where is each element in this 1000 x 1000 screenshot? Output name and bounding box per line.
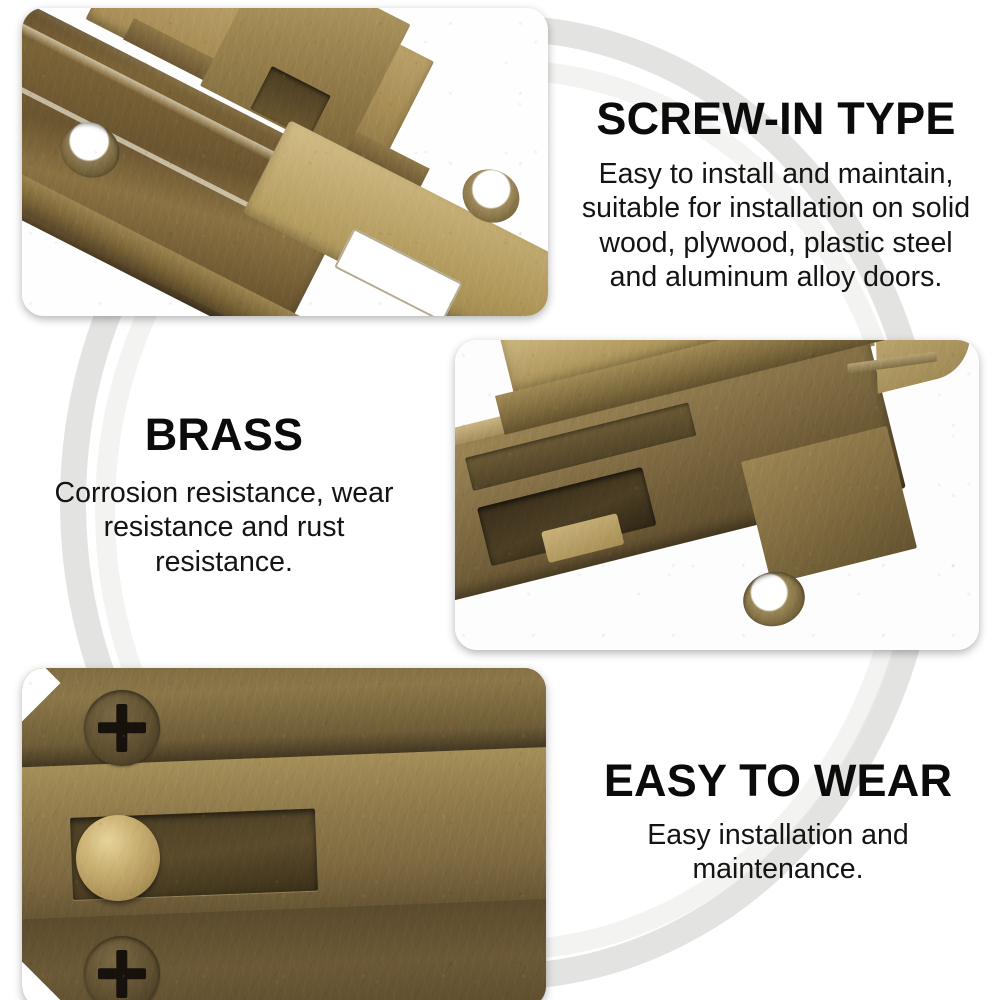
feature-description-line: suitable for installation on solid	[582, 192, 970, 224]
feature-description-line: Easy installation and	[647, 819, 908, 851]
bolt-knob	[76, 815, 160, 901]
feature-description-line: and aluminum alloy doors.	[610, 261, 943, 293]
phillips-cross-horizontal	[98, 968, 147, 979]
photo-top-left	[22, 8, 548, 316]
feature-description-line: Easy to install and maintain,	[599, 158, 954, 190]
photo-middle-right	[455, 340, 979, 650]
feature-description-line: Corrosion resistance, wear	[55, 477, 394, 509]
photo-bottom-left	[22, 668, 546, 1000]
feature-description: Corrosion resistance, wear resistance an…	[8, 476, 440, 579]
feature-description: Easy installation and maintenance.	[560, 818, 996, 887]
feature-heading: SCREW-IN TYPE	[556, 96, 996, 142]
phillips-screw-top	[84, 690, 160, 766]
infographic-canvas: SCREW-IN TYPE Easy to install and mainta…	[0, 0, 1000, 1000]
feature-description: Easy to install and maintain, suitable f…	[556, 157, 996, 295]
feature-brass: BRASS Corrosion resistance, wear resista…	[8, 412, 440, 579]
feature-easy-to-wear: EASY TO WEAR Easy installation and maint…	[560, 758, 996, 887]
feature-heading: EASY TO WEAR	[560, 758, 996, 804]
feature-description-line: resistance and rust	[104, 511, 345, 543]
phillips-cross-horizontal	[98, 722, 147, 733]
feature-description-line: resistance.	[155, 546, 293, 578]
feature-description-line: maintenance.	[692, 853, 863, 885]
feature-description-line: wood, plywood, plastic steel	[599, 227, 952, 259]
feature-screw-in-type: SCREW-IN TYPE Easy to install and mainta…	[556, 96, 996, 295]
feature-heading: BRASS	[8, 412, 440, 458]
